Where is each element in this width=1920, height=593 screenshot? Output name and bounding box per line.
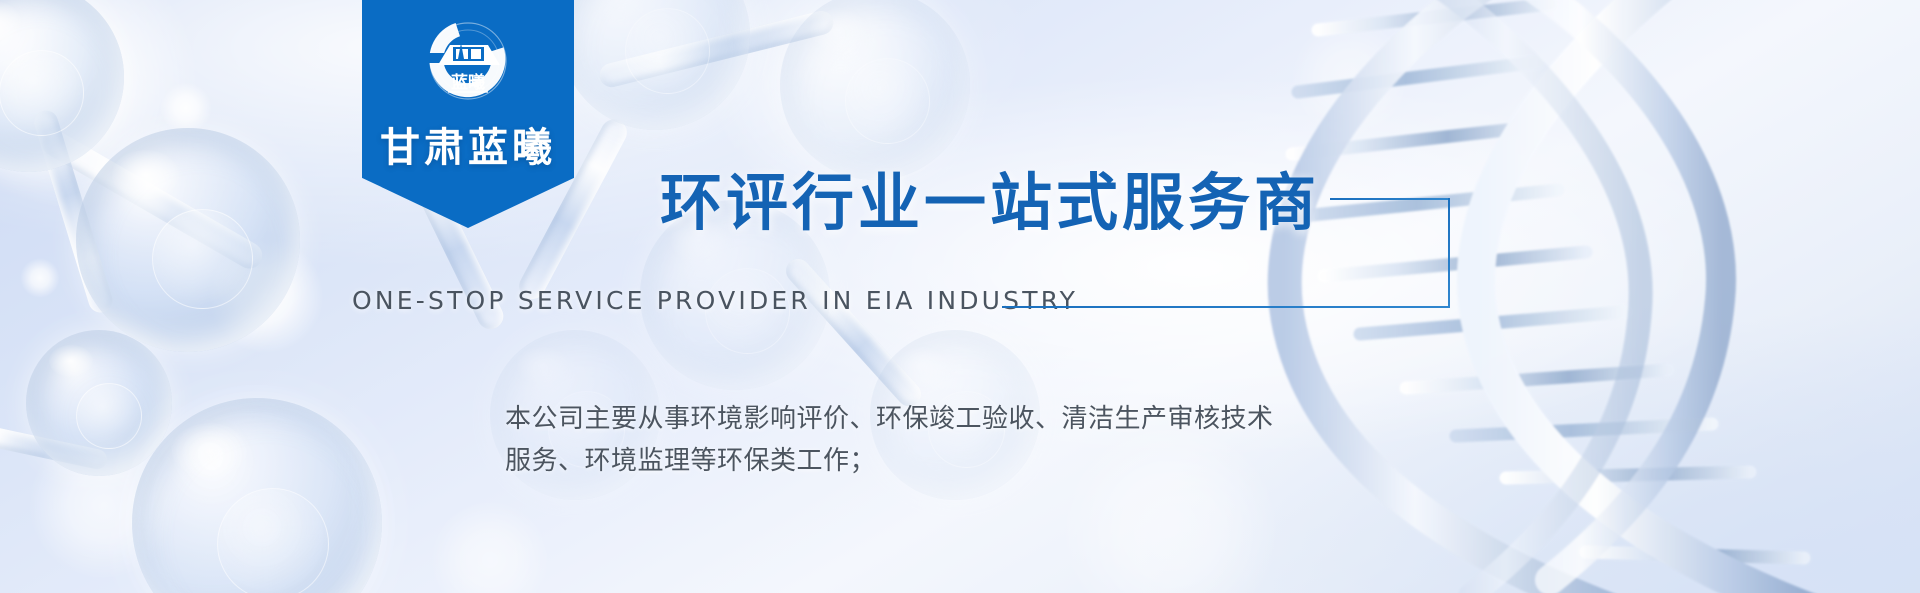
hero-banner: 蓝曦 甘肃蓝曦 环评行业一站式服务商 ONE-STOP SERVICE PROV… xyxy=(0,0,1920,593)
bracket-top-line xyxy=(1330,198,1450,200)
company-name: 甘肃蓝曦 xyxy=(362,128,574,168)
molecule-atom xyxy=(132,398,382,593)
description-line: 本公司主要从事环境影响评价、环保竣工验收、清洁生产审核技术 xyxy=(505,398,1465,440)
hero-headline: 环评行业一站式服务商 xyxy=(660,172,1320,234)
bokeh-glow xyxy=(1290,18,1410,138)
molecule-atom xyxy=(0,0,124,172)
hero-subtitle-english: ONE-STOP SERVICE PROVIDER IN EIA INDUSTR… xyxy=(352,286,1078,315)
molecule-atom xyxy=(26,330,172,476)
description-line: 服务、环境监理等环保类工作； xyxy=(505,440,1465,482)
company-badge: 蓝曦 甘肃蓝曦 xyxy=(362,0,574,228)
hero-description: 本公司主要从事环境影响评价、环保竣工验收、清洁生产审核技术 服务、环境监理等环保… xyxy=(505,398,1465,482)
molecule-atom xyxy=(560,0,750,130)
molecule-atom xyxy=(780,0,970,180)
dna-double-helix-graphic xyxy=(1220,0,1920,593)
lanxi-circular-logo: 蓝曦 xyxy=(414,13,522,121)
logo-inner-text: 蓝曦 xyxy=(451,72,485,93)
bracket-right-line xyxy=(1448,198,1450,308)
bokeh-glow xyxy=(430,500,550,593)
bokeh-glow xyxy=(20,258,60,298)
bokeh-glow xyxy=(160,82,212,134)
molecule-atom xyxy=(76,128,300,352)
